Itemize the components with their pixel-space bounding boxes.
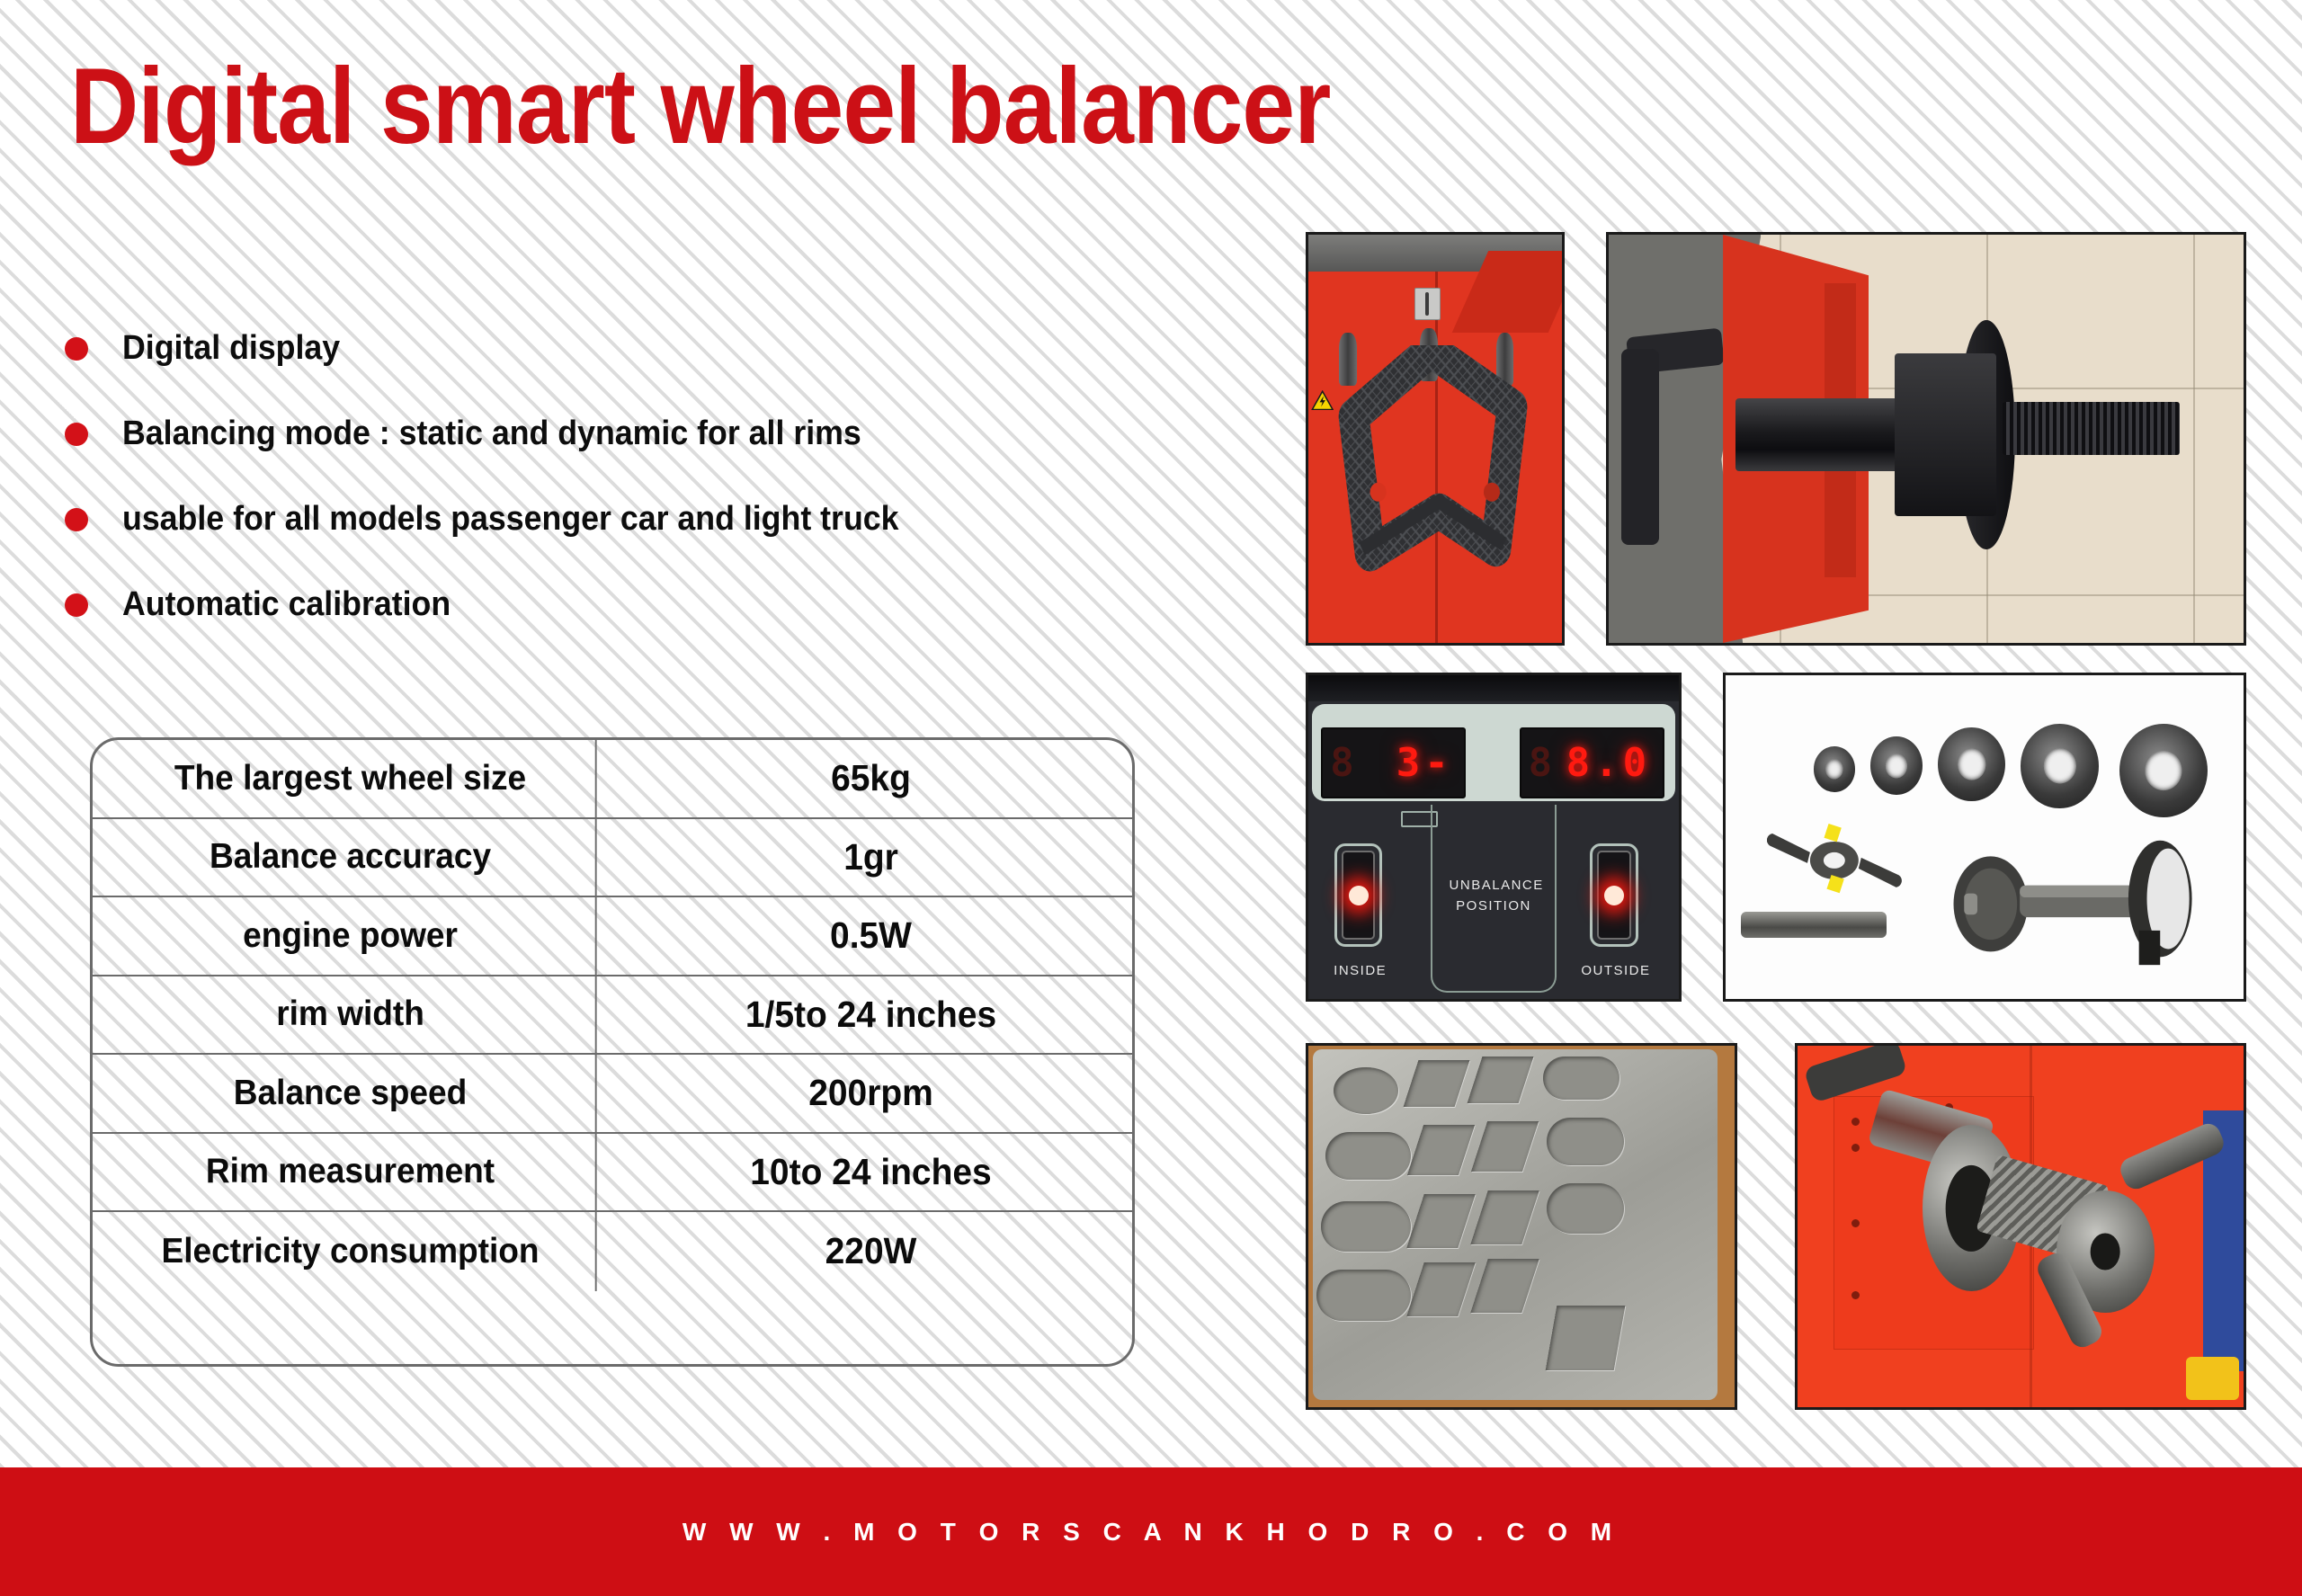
list-item: Balancing mode : static and dynamic for … [65, 391, 1189, 477]
spec-key: rim width [105, 976, 596, 1054]
table-row: Electricity consumption 220W [93, 1212, 1132, 1291]
indicator-lamp-inside [1334, 843, 1383, 947]
list-item: Automatic calibration [65, 562, 1189, 647]
led-ghost-digit: 8 [1330, 740, 1354, 786]
bullet-dot-icon [65, 593, 88, 617]
bullet-dot-icon [65, 508, 88, 531]
spec-value: 65kg [623, 740, 1120, 817]
spec-value: 10to 24 inches [623, 1134, 1120, 1211]
feature-list: Digital display Balancing mode : static … [65, 306, 1189, 647]
unbalance-label-line2: POSITION [1450, 896, 1539, 917]
spec-key: Balance accuracy [105, 819, 596, 896]
page-title: Digital smart wheel balancer [70, 52, 1330, 160]
led-value-inside: 3- [1396, 740, 1453, 786]
spec-value: 0.5W [623, 897, 1120, 975]
photo-machine-front-panel [1306, 232, 1565, 646]
spec-key: Electricity consumption [105, 1212, 596, 1291]
spec-key: Rim measurement [105, 1134, 596, 1211]
photo-spindle-shaft [1606, 232, 2246, 646]
spec-value: 200rpm [623, 1055, 1120, 1132]
led-display-outside: 8 8.0 [1520, 727, 1664, 798]
spec-key: Balance speed [105, 1055, 596, 1132]
led-ghost-digit: 8 [1529, 740, 1553, 786]
spec-key: engine power [105, 897, 596, 975]
inside-label: INSIDE [1327, 963, 1394, 978]
feature-label: Digital display [122, 329, 340, 368]
photo-cone-accessory-kit [1723, 673, 2246, 1002]
poster-canvas: Digital smart wheel balancer Digital dis… [0, 0, 2302, 1596]
website-url[interactable]: W W W . M O T O R S C A N K H O D R O . … [683, 1518, 1619, 1547]
photo-weight-storage-tray [1306, 1043, 1737, 1410]
spec-value: 1gr [623, 819, 1120, 896]
table-row: The largest wheel size 65kg [93, 740, 1132, 819]
bullet-dot-icon [65, 423, 88, 446]
table-row: rim width 1/5to 24 inches [93, 976, 1132, 1056]
specification-table: The largest wheel size 65kg Balance accu… [90, 737, 1135, 1367]
photo-led-control-panel: 8 3- 8 8.0 UNBALANCE POSITION INSIDE OUT… [1306, 673, 1682, 1002]
bullet-dot-icon [65, 337, 88, 361]
spec-value: 1/5to 24 inches [623, 976, 1120, 1054]
outside-label: OUTSIDE [1579, 963, 1653, 978]
footer-bar: W W W . M O T O R S C A N K H O D R O . … [0, 1467, 2302, 1596]
photo-quick-release-nut [1795, 1043, 2246, 1410]
led-display-inside: 8 3- [1321, 727, 1466, 798]
feature-label: Automatic calibration [122, 585, 451, 624]
indicator-lamp-outside [1590, 843, 1638, 947]
list-item: Digital display [65, 306, 1189, 391]
feature-label: Balancing mode : static and dynamic for … [122, 415, 861, 453]
table-row: Balance accuracy 1gr [93, 819, 1132, 898]
unbalance-position-label: UNBALANCE POSITION [1450, 876, 1539, 916]
spec-value: 220W [623, 1212, 1120, 1291]
led-value-outside: 8.0 [1566, 740, 1651, 786]
table-row: engine power 0.5W [93, 897, 1132, 976]
table-row: Rim measurement 10to 24 inches [93, 1134, 1132, 1213]
table-row: Balance speed 200rpm [93, 1055, 1132, 1134]
unbalance-label-line1: UNBALANCE [1450, 876, 1539, 896]
spec-key: The largest wheel size [105, 740, 596, 817]
feature-label: usable for all models passenger car and … [122, 500, 898, 539]
list-item: usable for all models passenger car and … [65, 477, 1189, 562]
